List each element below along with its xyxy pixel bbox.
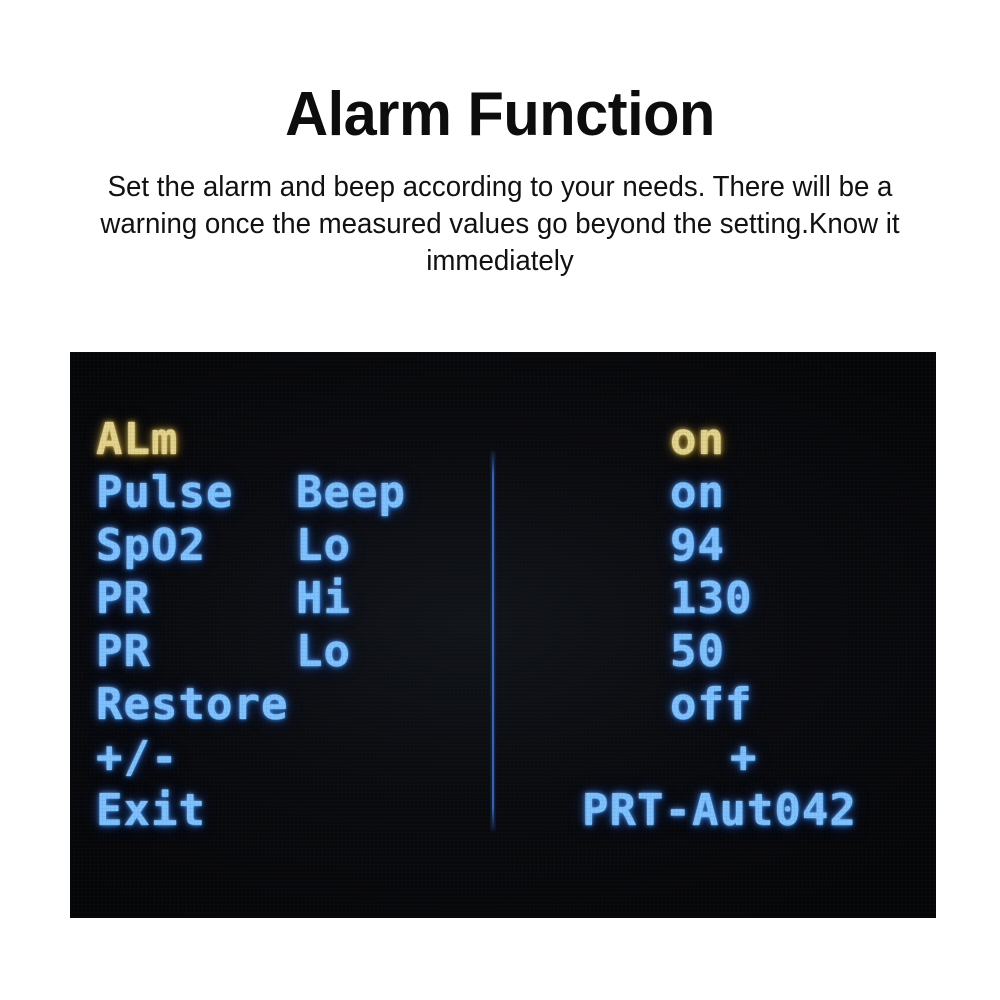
menu-row-plus-minus[interactable]: +/- + (70, 732, 936, 786)
menu-row-pulse-beep[interactable]: Pulse Beep on (70, 467, 936, 521)
menu-row-alm[interactable]: ALm on (70, 414, 936, 468)
menu-sublabel-lo-2: Lo (296, 626, 351, 678)
menu-sublabel-lo: Lo (296, 520, 351, 572)
menu-value-alm[interactable]: on (670, 414, 725, 466)
menu-label-exit: Exit (96, 785, 206, 837)
menu-value-pr-lo[interactable]: 50 (670, 626, 725, 678)
device-lcd-screen: ALm on Pulse Beep on SpO2 Lo 94 PR Hi 13… (70, 352, 936, 918)
menu-label-plus-minus: +/- (96, 732, 178, 784)
menu-row-pr-lo[interactable]: PR Lo 50 (70, 626, 936, 680)
menu-row-pr-hi[interactable]: PR Hi 130 (70, 573, 936, 627)
menu-label-pulse: Pulse (96, 467, 233, 519)
menu-row-spo2-lo[interactable]: SpO2 Lo 94 (70, 520, 936, 574)
menu-sublabel-beep: Beep (296, 467, 406, 519)
menu-label-spo2: SpO2 (96, 520, 206, 572)
menu-column-divider (492, 452, 494, 830)
menu-value-pr-hi[interactable]: 130 (670, 573, 752, 625)
menu-row-exit[interactable]: Exit PRT-Aut042 (70, 785, 936, 839)
menu-value-plus-minus[interactable]: + (730, 732, 758, 784)
menu-label-alm: ALm (96, 414, 178, 466)
alarm-settings-menu: ALm on Pulse Beep on SpO2 Lo 94 PR Hi 13… (70, 352, 936, 918)
lcd-inner-surface: ALm on Pulse Beep on SpO2 Lo 94 PR Hi 13… (70, 352, 936, 918)
menu-sublabel-hi: Hi (296, 573, 351, 625)
menu-value-spo2-lo[interactable]: 94 (670, 520, 725, 572)
menu-value-restore[interactable]: off (670, 679, 752, 731)
menu-label-pr-lo: PR (96, 626, 151, 678)
menu-row-restore[interactable]: Restore off (70, 679, 936, 733)
page-title: Alarm Function (20, 0, 980, 147)
menu-label-pr-hi: PR (96, 573, 151, 625)
header-block: Alarm Function Set the alarm and beep ac… (0, 0, 1000, 280)
menu-value-printer-model: PRT-Aut042 (582, 785, 857, 837)
page-description: Set the alarm and beep according to your… (93, 147, 908, 280)
menu-label-restore: Restore (96, 679, 288, 731)
menu-value-pulse-beep[interactable]: on (670, 467, 725, 519)
